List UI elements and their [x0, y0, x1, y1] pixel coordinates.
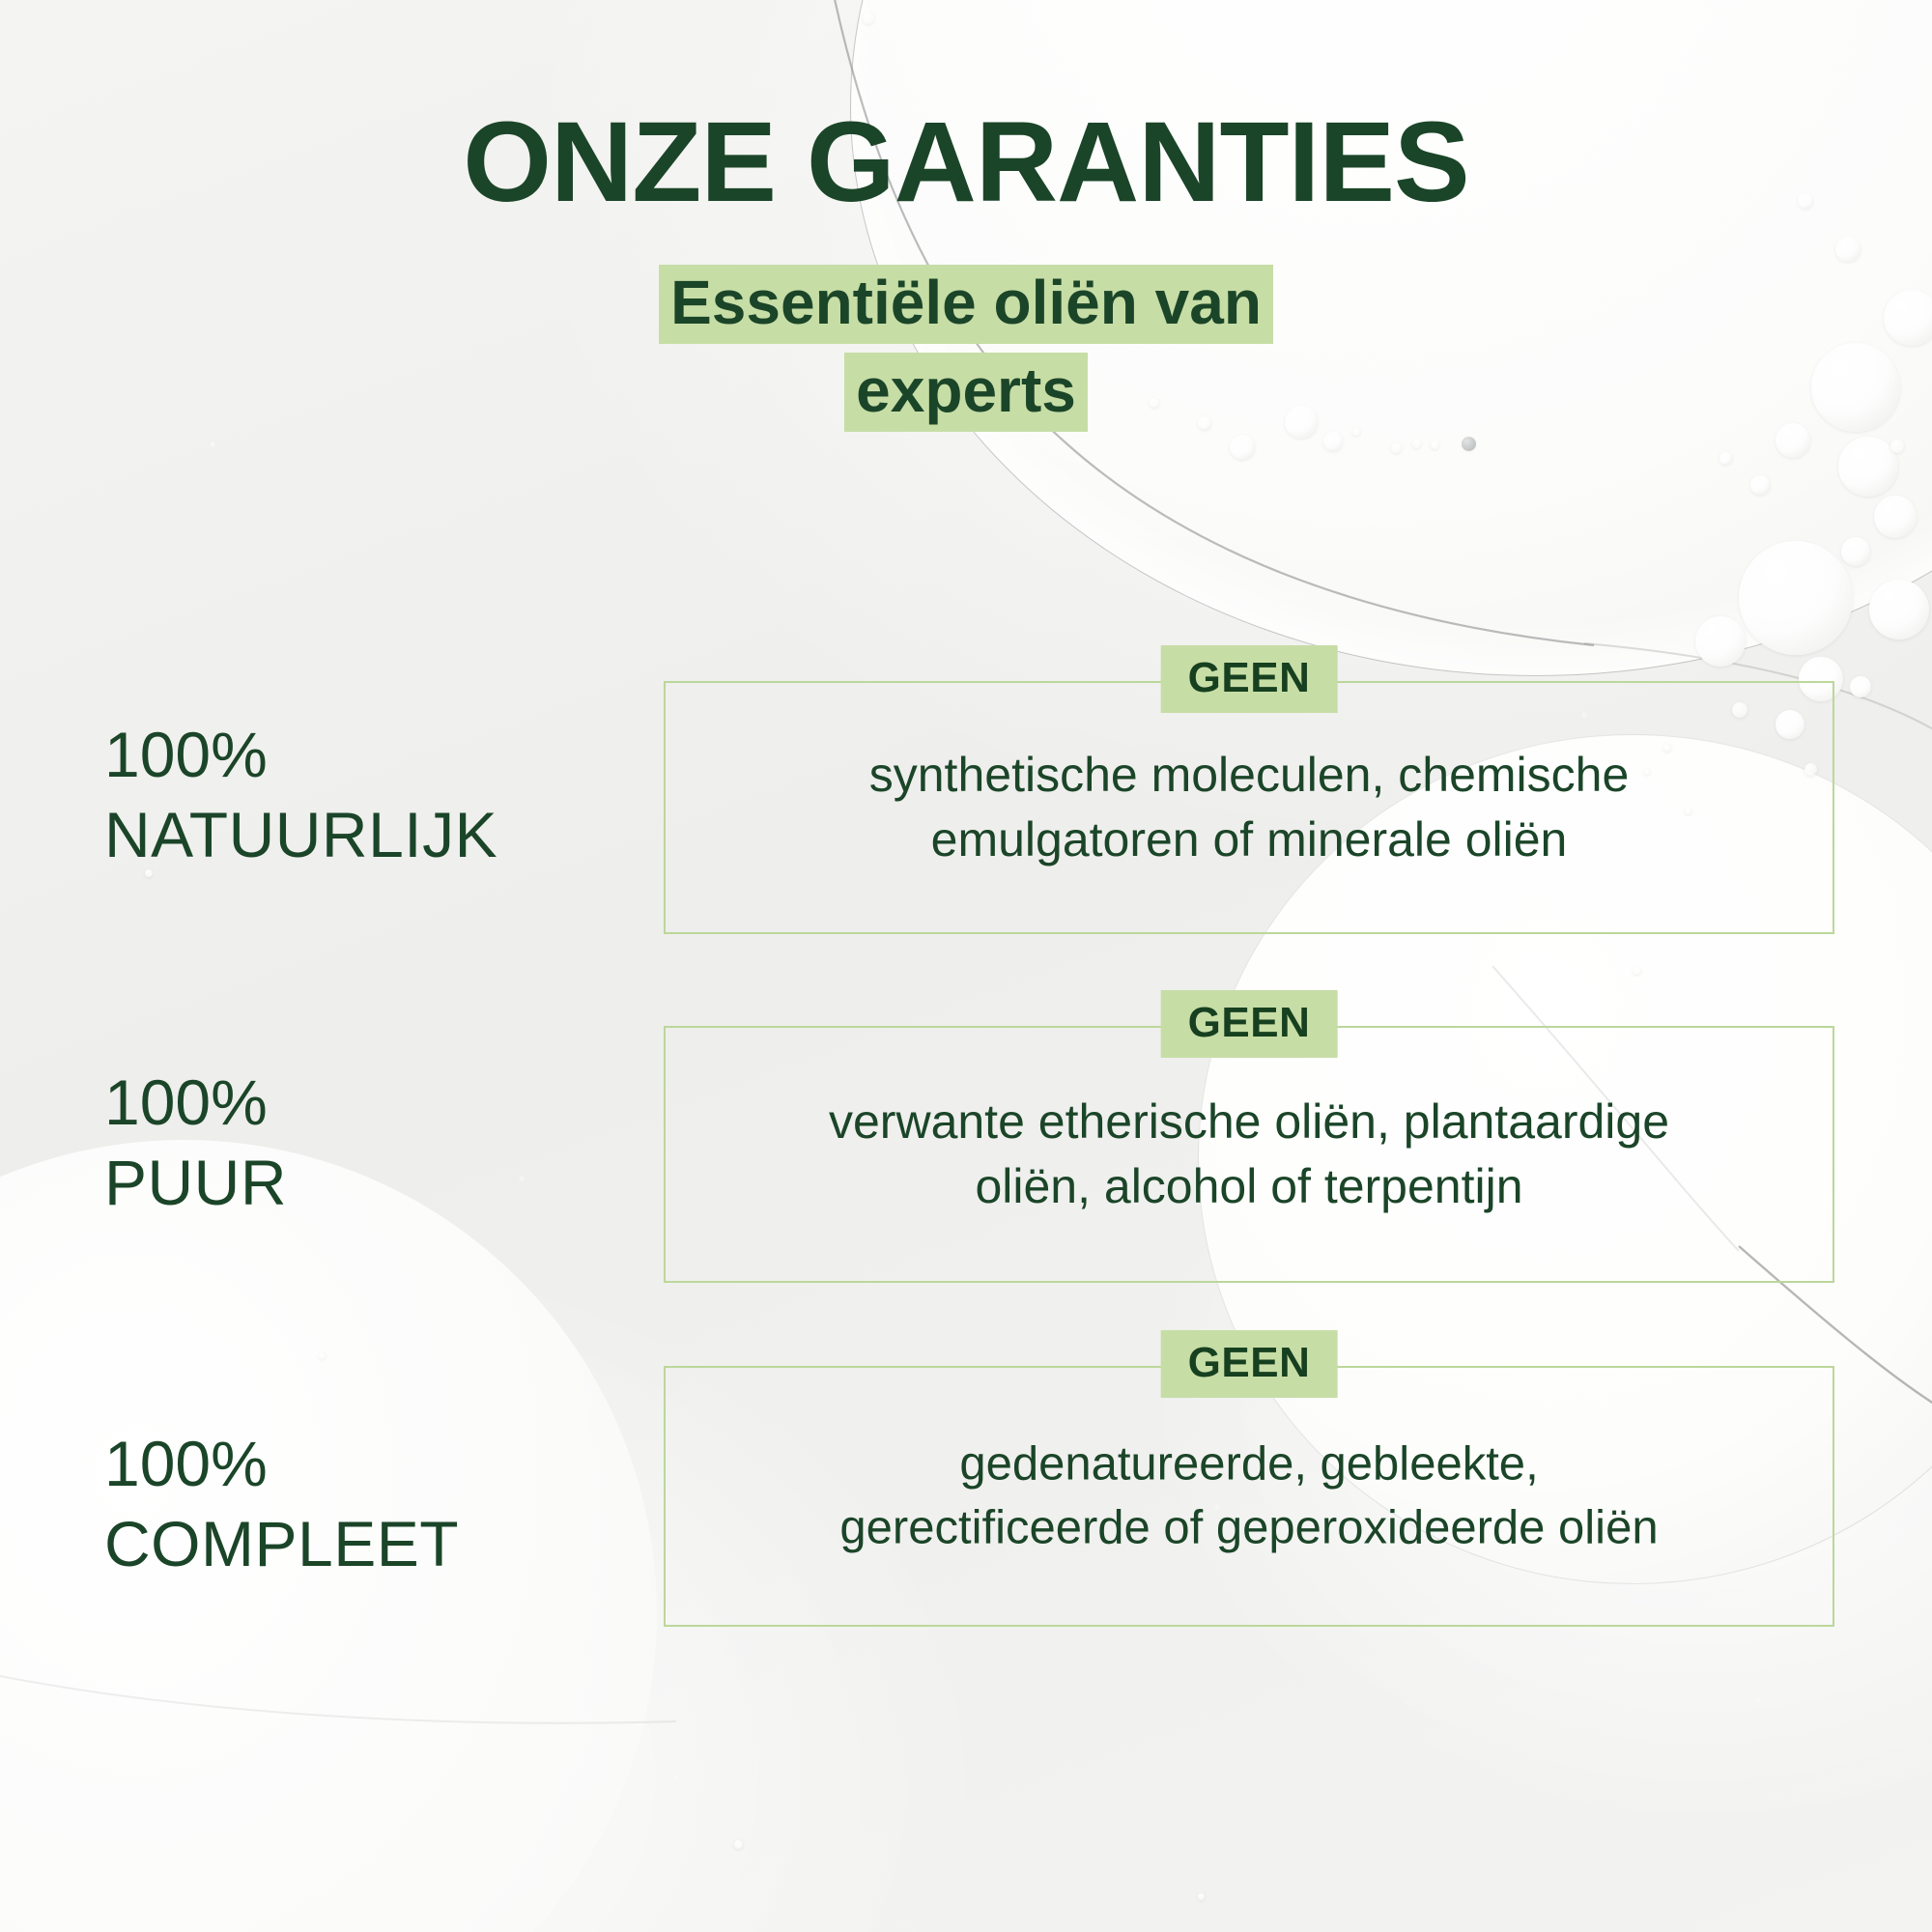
- guarantee-panel: GEEN gedenatureerde, gebleekte, gerectif…: [664, 1366, 1834, 1627]
- guarantee-panel: GEEN synthetische moleculen, chemische e…: [664, 681, 1834, 934]
- guarantee-exclusions: verwante etherische oliën, plantaardige …: [666, 1090, 1833, 1219]
- guarantee-word: NATUURLIJK: [104, 795, 626, 875]
- guarantee-claim: 100% COMPLEET: [104, 1424, 626, 1584]
- guarantee-badge: GEEN: [1161, 990, 1338, 1058]
- guarantee-percent: 100%: [104, 715, 626, 795]
- guarantee-percent: 100%: [104, 1424, 626, 1504]
- exclusion-line-2: oliën, alcohol of terpentijn: [975, 1159, 1522, 1213]
- guarantees-infographic: ONZE GARANTIES Essentiële oliën van expe…: [0, 0, 1932, 1932]
- guarantee-panel: GEEN verwante etherische oliën, plantaar…: [664, 1026, 1834, 1283]
- guarantee-badge: GEEN: [1161, 1330, 1338, 1398]
- guarantee-percent: 100%: [104, 1063, 626, 1143]
- subtitle-line-2: experts: [844, 353, 1088, 432]
- guarantee-exclusions: gedenatureerde, gebleekte, gerectificeer…: [666, 1433, 1833, 1559]
- guarantee-word: PUUR: [104, 1143, 626, 1223]
- guarantee-claim: 100% NATUURLIJK: [104, 715, 626, 875]
- exclusion-line-1: synthetische moleculen, chemische: [869, 748, 1630, 802]
- exclusion-line-1: gedenatureerde, gebleekte,: [959, 1437, 1538, 1490]
- guarantee-word: COMPLEET: [104, 1504, 626, 1584]
- guarantee-badge: GEEN: [1161, 645, 1338, 713]
- page-subtitle: Essentiële oliën van experts: [0, 259, 1932, 435]
- exclusion-line-1: verwante etherische oliën, plantaardige: [829, 1094, 1669, 1149]
- guarantee-exclusions: synthetische moleculen, chemische emulga…: [666, 743, 1833, 872]
- guarantee-claim: 100% PUUR: [104, 1063, 626, 1223]
- exclusion-line-2: gerectificeerde of geperoxideerde oliën: [839, 1501, 1658, 1553]
- subtitle-line-1: Essentiële oliën van: [659, 265, 1273, 344]
- page-title: ONZE GARANTIES: [0, 104, 1932, 220]
- exclusion-line-2: emulgatoren of minerale oliën: [931, 812, 1568, 867]
